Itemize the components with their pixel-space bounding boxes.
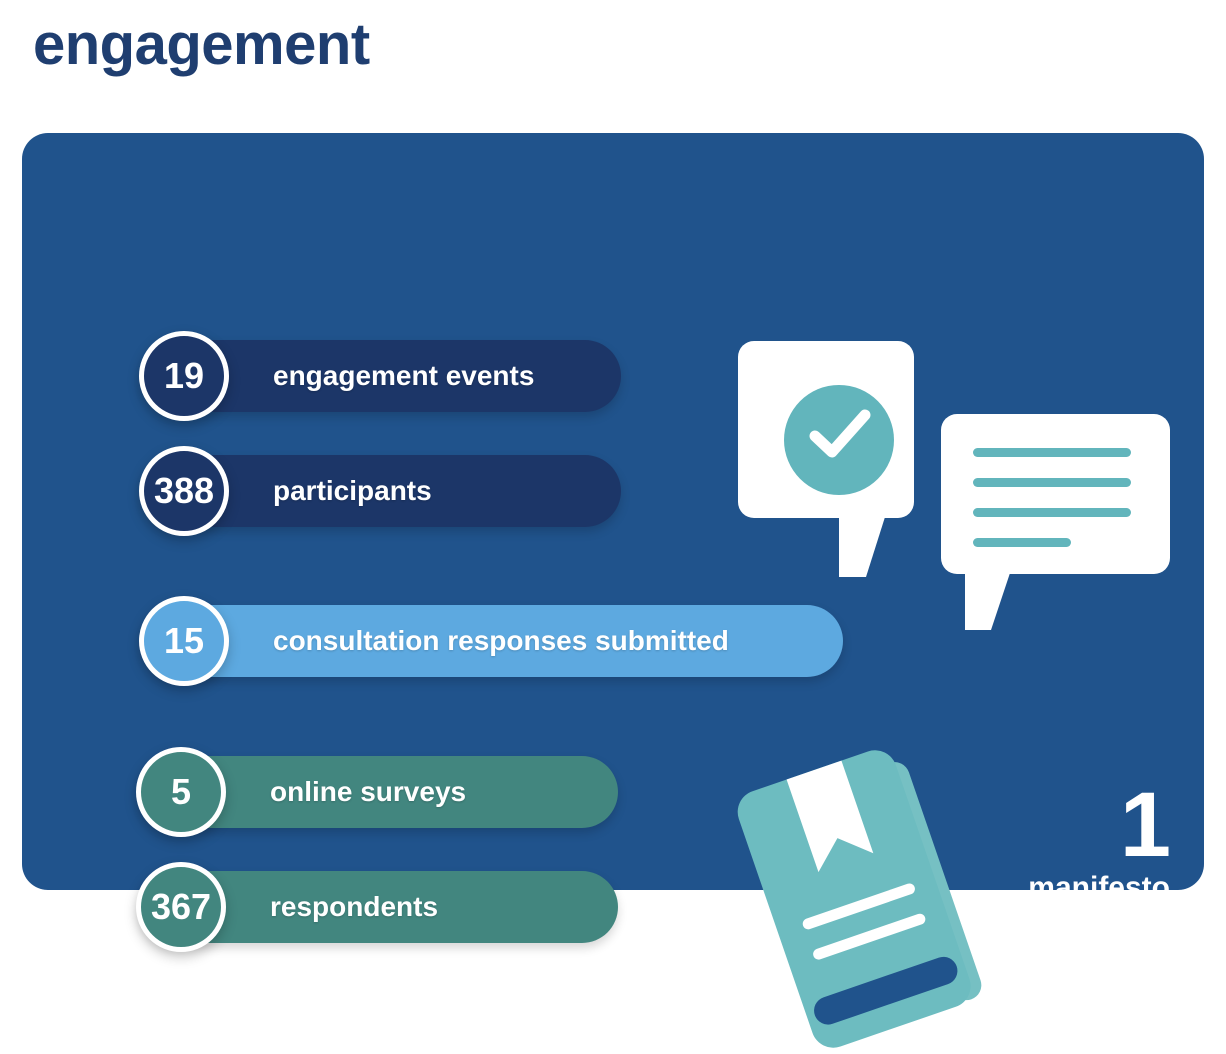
speech-bubble-lines-icon	[941, 414, 1170, 574]
manifesto-number: 1	[962, 785, 1170, 866]
bubble-text-line	[973, 538, 1071, 547]
manifesto-stat: 1 manifesto launched	[962, 785, 1170, 937]
bubble-text-line	[973, 478, 1131, 487]
stat-number-circle: 367	[136, 862, 226, 952]
stat-label: consultation responses submitted	[273, 605, 729, 677]
stat-label: online surveys	[270, 756, 466, 828]
engagement-panel: engagement events 19 participants 388 co…	[22, 133, 1204, 890]
stat-label: participants	[273, 455, 432, 527]
speech-bubble-check-icon	[738, 341, 914, 518]
stat-number-circle: 388	[139, 446, 229, 536]
infographic-page: engagement engagement events 19 particip…	[0, 0, 1226, 928]
speech-bubble-tail	[965, 573, 1010, 630]
stat-number-circle: 15	[139, 596, 229, 686]
page-title: engagement	[33, 16, 370, 74]
stat-number-circle: 19	[139, 331, 229, 421]
stat-label: respondents	[270, 871, 438, 943]
check-icon	[807, 402, 873, 468]
speech-bubble-tail	[839, 517, 885, 577]
stat-label: engagement events	[273, 340, 534, 412]
bubble-text-line	[973, 508, 1131, 517]
manifesto-caption-line-2: launched	[962, 904, 1170, 936]
stat-number-circle: 5	[136, 747, 226, 837]
manifesto-caption-line-1: manifesto	[962, 872, 1170, 904]
bubble-text-line	[973, 448, 1131, 457]
manifesto-caption: manifesto launched	[962, 872, 1170, 937]
check-circle	[784, 385, 894, 495]
